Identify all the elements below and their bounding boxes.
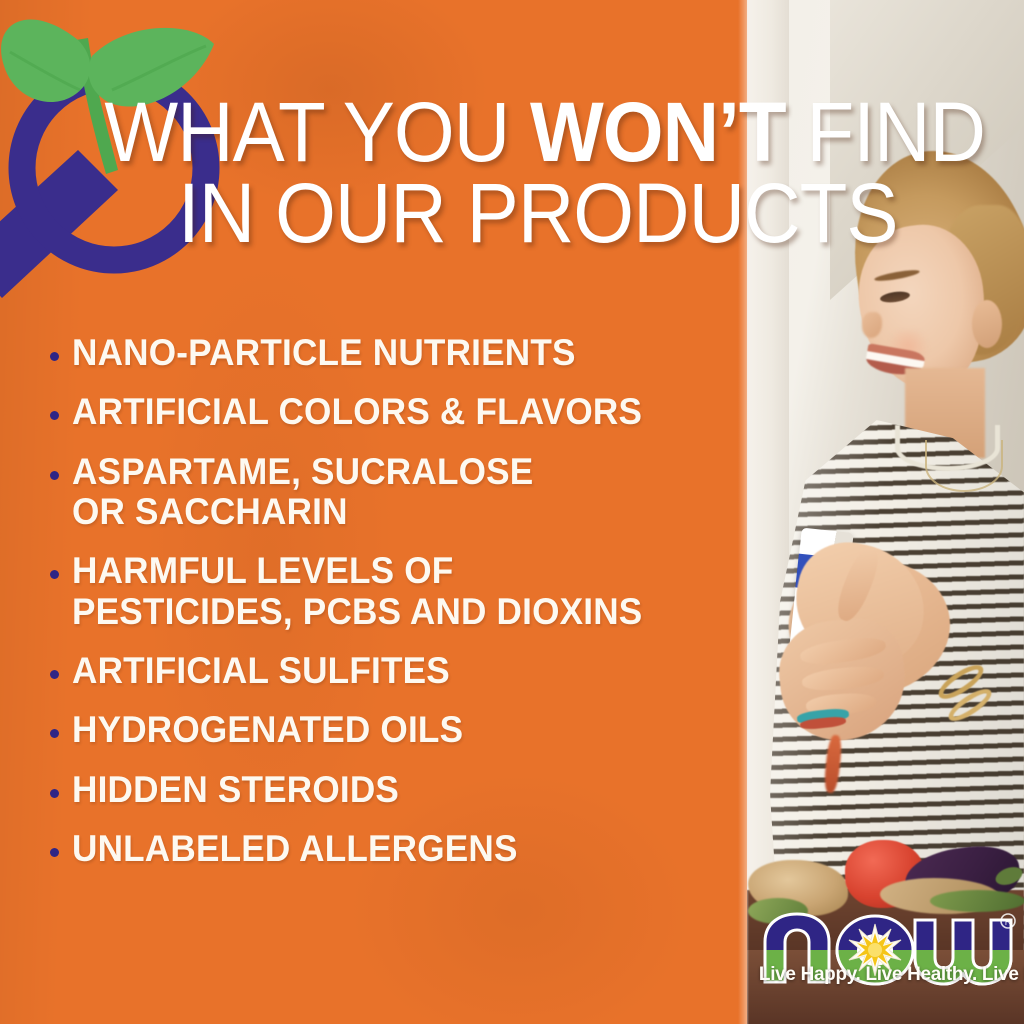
bullet-dot-icon — [50, 848, 59, 857]
bullet-dot-icon — [50, 729, 59, 738]
list-item: HIDDEN STEROIDS — [50, 770, 740, 810]
list-item-label: HIDDEN STEROIDS — [72, 770, 399, 810]
ear — [972, 300, 1002, 348]
necklace — [925, 440, 1003, 492]
list-item: ARTIFICIAL COLORS & FLAVORS — [50, 392, 740, 432]
list-item: HARMFUL LEVELS OF PESTICIDES, PCBS AND D… — [50, 551, 740, 632]
list-item-label: UNLABELED ALLERGENS — [72, 829, 518, 869]
list-item-label: ARTIFICIAL SULFITES — [72, 651, 450, 691]
list-item-label: ARTIFICIAL COLORS & FLAVORS — [72, 392, 642, 432]
bullet-dot-icon — [50, 352, 59, 361]
list-item: HYDROGENATED OILS — [50, 710, 740, 750]
page-title: WHAT YOU WON’T FIND IN OUR PRODUCTS — [0, 92, 985, 253]
svg-text:R: R — [1005, 917, 1012, 927]
bullet-dot-icon — [50, 471, 59, 480]
title-line-2: IN OUR PRODUCTS — [69, 173, 985, 254]
list-item-label: HARMFUL LEVELS OF PESTICIDES, PCBS AND D… — [72, 551, 642, 632]
title-line-1: WHAT YOU WON’T FIND — [69, 92, 985, 173]
bullet-dot-icon — [50, 570, 59, 579]
promotional-graphic: WHAT YOU WON’T FIND IN OUR PRODUCTS NANO… — [0, 0, 1024, 1024]
brand-tagline: Live Happy. Live Healthy. Live NOW. — [759, 963, 1013, 986]
bullet-dot-icon — [50, 789, 59, 798]
exclusion-list: NANO-PARTICLE NUTRIENTS ARTIFICIAL COLOR… — [50, 333, 740, 888]
list-item: UNLABELED ALLERGENS — [50, 829, 740, 869]
list-item: ARTIFICIAL SULFITES — [50, 651, 740, 691]
list-item: NANO-PARTICLE NUTRIENTS — [50, 333, 740, 373]
list-item: ASPARTAME, SUCRALOSE OR SACCHARIN — [50, 452, 740, 533]
list-item-label: NANO-PARTICLE NUTRIENTS — [72, 333, 576, 373]
bullet-dot-icon — [50, 670, 59, 679]
list-item-label: HYDROGENATED OILS — [72, 710, 463, 750]
now-brand-logo: R — [755, 896, 1017, 1006]
list-item-label: ASPARTAME, SUCRALOSE OR SACCHARIN — [72, 452, 533, 533]
bullet-dot-icon — [50, 411, 59, 420]
